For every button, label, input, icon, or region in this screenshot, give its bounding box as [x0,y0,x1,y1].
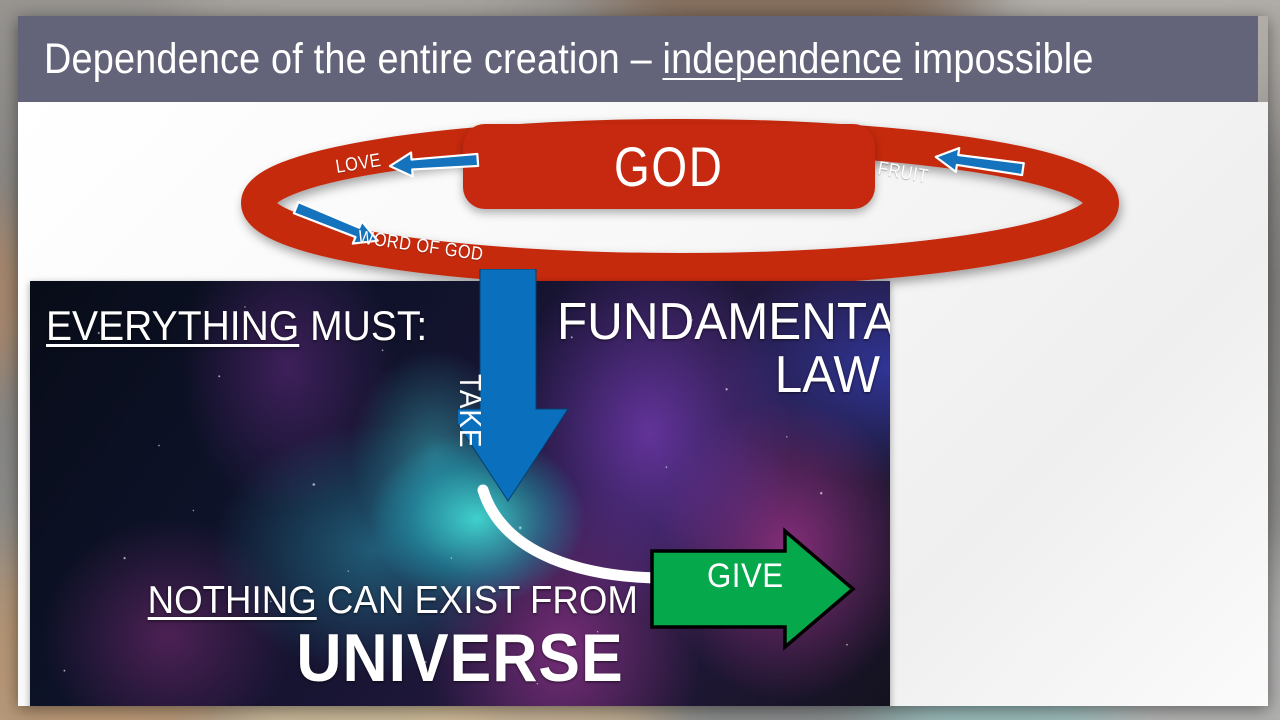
nothing-word: NOTHING [148,579,317,622]
title-underlined-word: independence [663,35,903,83]
love-arrow-icon [387,145,481,186]
fundamental-law-text: FUNDAMENTAL LAW [557,296,880,402]
title-suffix: impossible [902,35,1093,83]
slide-body: GOD LOVE FRUIT WORD OF GOD [18,102,1268,706]
slide-title-bar: Dependence of the entire creation – inde… [18,16,1258,102]
god-label: GOD [614,139,724,195]
take-label: TAKE [452,374,488,448]
page-title: Dependence of the entire creation – inde… [44,38,1094,81]
give-label: GIVE [707,557,784,596]
universe-text: UNIVERSE [296,624,623,693]
slide-stage: Dependence of the entire creation – inde… [0,0,1280,720]
must-word: MUST: [299,302,427,349]
everything-must-text: EVERYTHING MUST: [46,305,427,348]
title-prefix: Dependence of the entire creation – [44,35,663,83]
presentation-slide: Dependence of the entire creation – inde… [18,16,1268,706]
god-box: GOD [463,124,875,209]
everything-word: EVERYTHING [46,302,299,349]
